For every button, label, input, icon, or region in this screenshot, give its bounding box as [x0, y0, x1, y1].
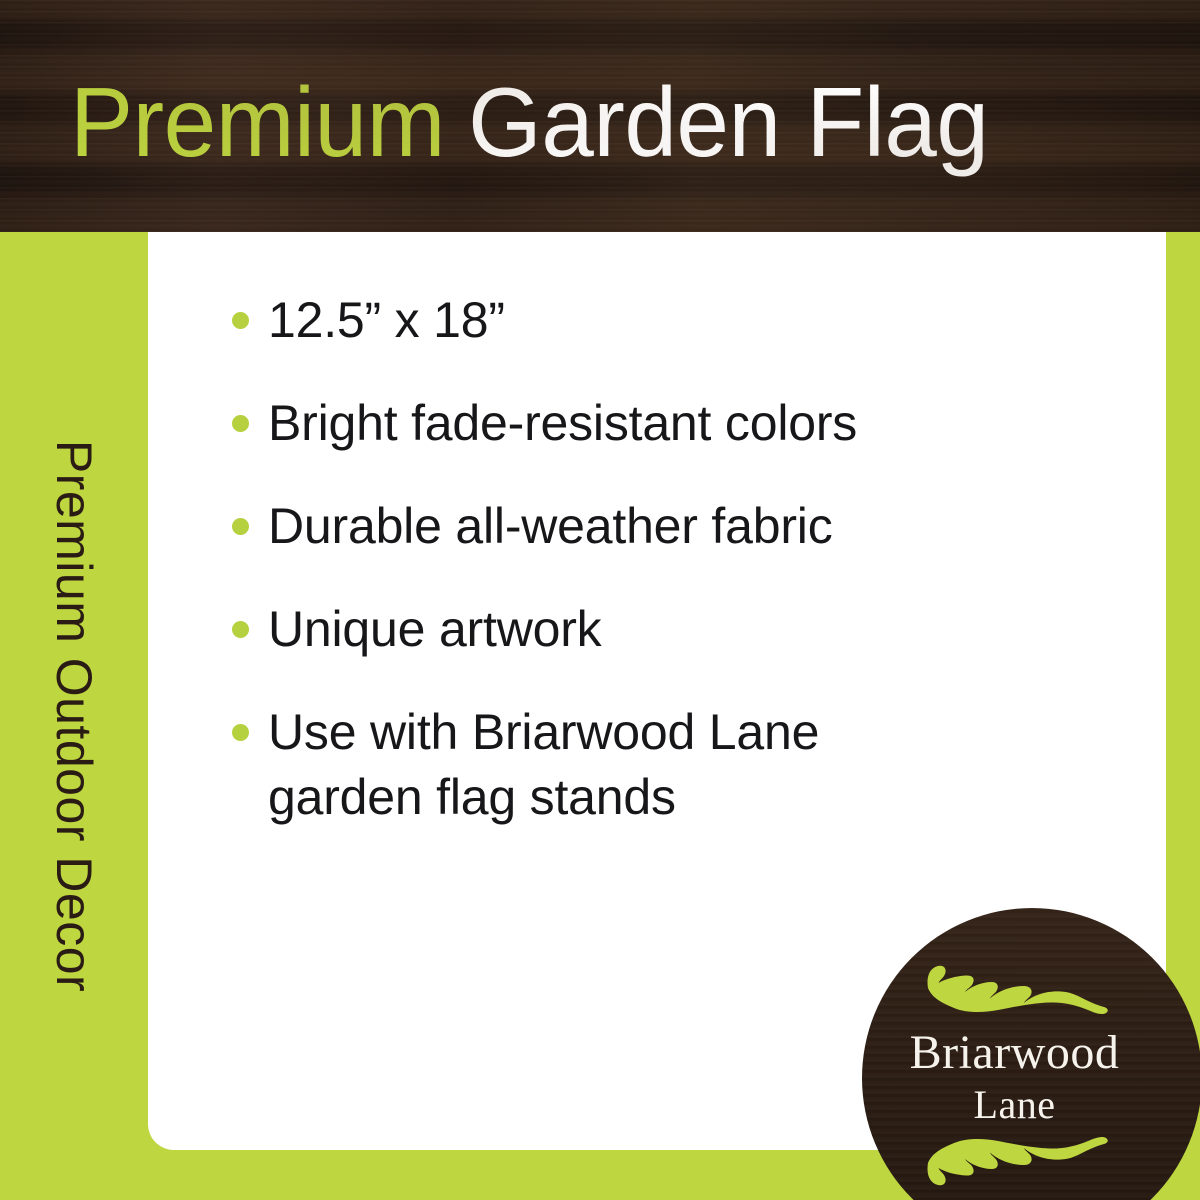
bullet-dot-icon [232, 621, 249, 638]
list-item-label: Bright fade-resistant colors [268, 395, 857, 451]
bullet-dot-icon [232, 518, 249, 535]
product-info-card: Premium Garden Flag Premium Outdoor Deco… [0, 0, 1200, 1200]
bullet-dot-icon [232, 724, 249, 741]
brand-name-secondary: Lane [910, 1085, 1120, 1125]
bullet-dot-icon [232, 415, 249, 432]
feature-list: 12.5” x 18” Bright fade-resistant colors… [148, 232, 1166, 830]
list-item-label: Unique artwork [268, 601, 601, 657]
list-item-label: Durable all-weather fabric [268, 498, 833, 554]
title-main-words: Garden Flag [468, 73, 988, 171]
oak-leaf-icon [920, 960, 1110, 1023]
list-item: 12.5” x 18” [148, 288, 1166, 353]
list-item: Bright fade-resistant colors [148, 391, 1166, 456]
page-title: Premium Garden Flag [70, 62, 988, 182]
oak-leaf-icon [920, 1133, 1110, 1196]
sidebar-rail: Premium Outdoor Decor [0, 232, 148, 1200]
sidebar-vertical-label: Premium Outdoor Decor [49, 440, 99, 992]
list-item: Use with Briarwood Lane garden flag stan… [148, 700, 1166, 830]
list-item-label: Use with Briarwood Lane garden flag stan… [268, 704, 819, 825]
list-item: Unique artwork [148, 597, 1166, 662]
brand-name-primary: Briarwood [910, 1029, 1120, 1077]
title-accent-word: Premium [70, 73, 445, 171]
list-item: Durable all-weather fabric [148, 494, 1166, 559]
brand-wordmark: Briarwood Lane [910, 1029, 1120, 1125]
bullet-dot-icon [232, 312, 249, 329]
header-banner: Premium Garden Flag [0, 0, 1200, 232]
list-item-label: 12.5” x 18” [268, 292, 505, 348]
brand-logo-content: Briarwood Lane [862, 908, 1167, 1200]
brand-logo-badge: Briarwood Lane [862, 908, 1200, 1200]
